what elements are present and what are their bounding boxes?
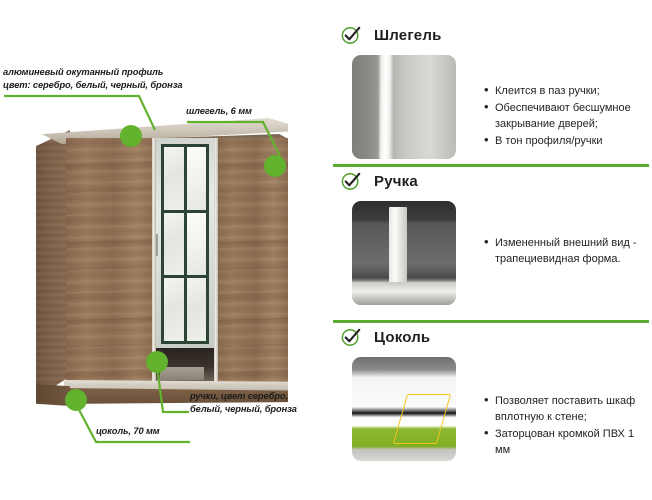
wardrobe-3d-render bbox=[36, 112, 288, 404]
reflected-door-handle bbox=[156, 234, 158, 256]
section-divider bbox=[333, 164, 649, 167]
feature-header: Ручка bbox=[330, 168, 652, 194]
check-circle-icon bbox=[340, 24, 362, 46]
feature-title: Шлегель bbox=[374, 27, 442, 44]
callout-handles: ручки, цвет серебро, белый, черный, брон… bbox=[190, 390, 297, 415]
callout-profile: алюминевый окутанный профиль цвет: сереб… bbox=[3, 66, 182, 91]
callout-plinth: цоколь, 70 мм bbox=[96, 425, 160, 438]
shlegel-photo bbox=[352, 55, 456, 159]
feature-body: Клеится в паз ручки; Обеспечивают бесшум… bbox=[330, 55, 652, 159]
feature-bullet-list: Позволяет поставить шкаф вплотную к стен… bbox=[456, 357, 652, 459]
feature-bullet-list: Измененный внешний вид - трапециевидная … bbox=[456, 201, 652, 268]
callout-handles-line1: ручки, цвет серебро, bbox=[190, 390, 297, 403]
plinth-photo bbox=[352, 357, 456, 461]
feature-bullet: Измененный внешний вид - трапециевидная … bbox=[484, 235, 646, 267]
window-pane bbox=[187, 147, 207, 210]
feature-bullet: В тон профиля/ручки bbox=[484, 133, 646, 149]
window-pane-grid bbox=[164, 147, 206, 341]
window-pane bbox=[164, 213, 184, 276]
feature-header: Шлегель bbox=[330, 22, 652, 48]
callout-profile-line2: цвет: серебро, белый, черный, бронза bbox=[3, 79, 182, 92]
feature-header: Цоколь bbox=[330, 324, 652, 350]
feature-section-shlegel: Шлегель Клеится в паз ручки; Обеспечиваю… bbox=[330, 22, 652, 162]
feature-bullet: Позволяет поставить шкаф вплотную к стен… bbox=[484, 393, 646, 425]
section-divider bbox=[333, 320, 649, 323]
feature-bullet: Обеспечивают бесшумное закрывание дверей… bbox=[484, 100, 646, 132]
feature-title: Ручка bbox=[374, 173, 418, 190]
door-handle-profile-right bbox=[214, 138, 218, 382]
window-pane bbox=[187, 278, 207, 341]
window-pane bbox=[164, 147, 184, 210]
callout-profile-line1: алюминевый окутанный профиль bbox=[3, 66, 182, 79]
window-pane bbox=[164, 278, 184, 341]
feature-body: Позволяет поставить шкаф вплотную к стен… bbox=[330, 357, 652, 461]
reflected-window-frame bbox=[161, 144, 209, 344]
callout-handles-line2: белый, черный, бронза bbox=[190, 403, 297, 416]
wardrobe-side-gable bbox=[36, 130, 70, 398]
wardrobe-doors bbox=[66, 138, 288, 382]
feature-bullet: Заторцован кромкой ПВХ 1 мм bbox=[484, 426, 646, 458]
wardrobe-illustration-panel: алюминевый окутанный профиль цвет: сереб… bbox=[0, 0, 330, 500]
feature-bullet: Клеится в паз ручки; bbox=[484, 83, 646, 99]
wardrobe-door-mirror bbox=[154, 138, 216, 382]
reflected-rug bbox=[160, 367, 204, 380]
wardrobe-door-left bbox=[66, 138, 154, 382]
wardrobe-gable-foot bbox=[36, 384, 70, 406]
check-circle-icon bbox=[340, 326, 362, 348]
callout-shlegel: шлегель, 6 мм bbox=[186, 105, 252, 118]
check-circle-icon bbox=[340, 170, 362, 192]
features-panel: Шлегель Клеится в паз ручки; Обеспечиваю… bbox=[330, 0, 652, 500]
feature-section-handle: Ручка Измененный внешний вид - трапециев… bbox=[330, 168, 652, 318]
feature-section-plinth: Цоколь Позволяет поставить шкаф вплотную… bbox=[330, 324, 652, 484]
callout-shlegel-line1: шлегель, 6 мм bbox=[186, 105, 252, 118]
feature-body: Измененный внешний вид - трапециевидная … bbox=[330, 201, 652, 305]
reflected-floor bbox=[154, 348, 216, 382]
mirror-surface bbox=[154, 138, 216, 382]
callout-plinth-line1: цоколь, 70 мм bbox=[96, 425, 160, 438]
door-handle-profile-left bbox=[152, 138, 156, 382]
feature-bullet-list: Клеится в паз ручки; Обеспечивают бесшум… bbox=[456, 55, 652, 150]
handle-photo bbox=[352, 201, 456, 305]
feature-title: Цоколь bbox=[374, 329, 430, 346]
wardrobe-door-right bbox=[216, 138, 288, 382]
window-pane bbox=[187, 213, 207, 276]
